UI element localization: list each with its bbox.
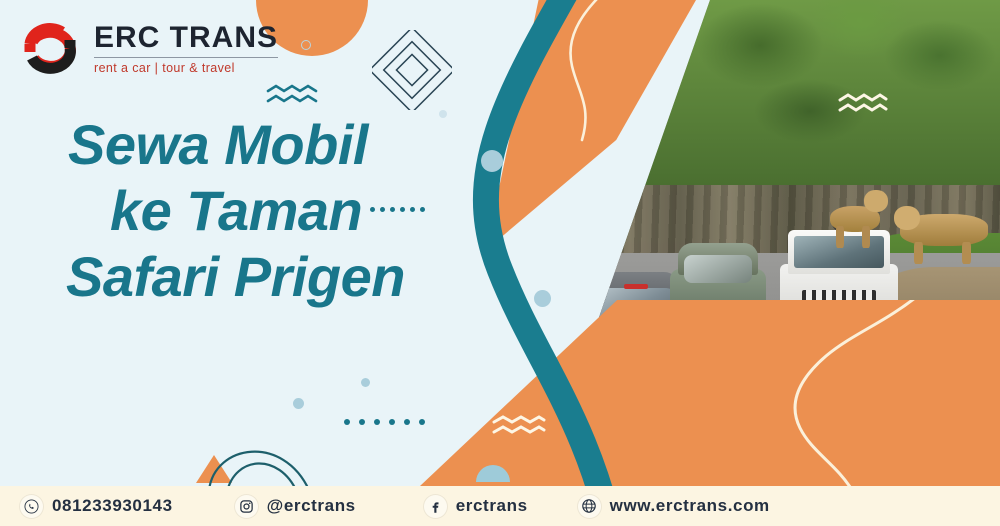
- dot-decoration-icon: [534, 290, 551, 307]
- headline-line-3: Safari Prigen: [66, 244, 538, 310]
- brand-tagline: rent a car | tour & travel: [94, 61, 278, 75]
- contact-facebook[interactable]: erctrans: [424, 495, 528, 518]
- zigzag-wave-icon: [492, 415, 546, 442]
- erc-circle-logo-icon: [18, 22, 82, 76]
- contact-whatsapp[interactable]: 081233930143: [20, 495, 173, 518]
- website-url: www.erctrans.com: [610, 496, 770, 516]
- dot-decoration-icon: [370, 207, 425, 212]
- dot-decoration-icon: [344, 419, 425, 425]
- dot-decoration-icon: [293, 398, 304, 409]
- promo-banner: ERC TRANS rent a car | tour & travel Sew…: [0, 0, 1000, 526]
- contact-footer: 081233930143 @erctrans erctrans: [0, 486, 1000, 526]
- lion-standing-right: [830, 190, 892, 250]
- globe-icon: [578, 495, 601, 518]
- contact-website[interactable]: www.erctrans.com: [578, 495, 770, 518]
- headline-block: Sewa Mobil ke Taman Safari Prigen: [68, 112, 538, 310]
- instagram-handle: @erctrans: [267, 496, 356, 516]
- whatsapp-number: 081233930143: [52, 496, 173, 516]
- headline-line-2: ke Taman: [110, 178, 362, 244]
- zigzag-wave-icon: [838, 93, 888, 120]
- facebook-handle: erctrans: [456, 496, 528, 516]
- dot-decoration-icon: [481, 150, 503, 172]
- lion-walking-right: [900, 204, 995, 266]
- brand-logo: ERC TRANS rent a car | tour & travel: [18, 22, 278, 76]
- dot-decoration-icon: [439, 110, 447, 118]
- dot-decoration-icon: [301, 40, 311, 50]
- instagram-icon: [235, 495, 258, 518]
- concentric-diamond-icon: [372, 30, 452, 110]
- dot-decoration-icon: [361, 378, 370, 387]
- headline-line-1: Sewa Mobil: [68, 112, 538, 178]
- brand-divider: [94, 57, 278, 58]
- whatsapp-icon: [20, 495, 43, 518]
- contact-instagram[interactable]: @erctrans: [235, 495, 356, 518]
- facebook-icon: [424, 495, 447, 518]
- zigzag-wave-icon: [266, 84, 318, 111]
- brand-name: ERC TRANS: [94, 23, 278, 53]
